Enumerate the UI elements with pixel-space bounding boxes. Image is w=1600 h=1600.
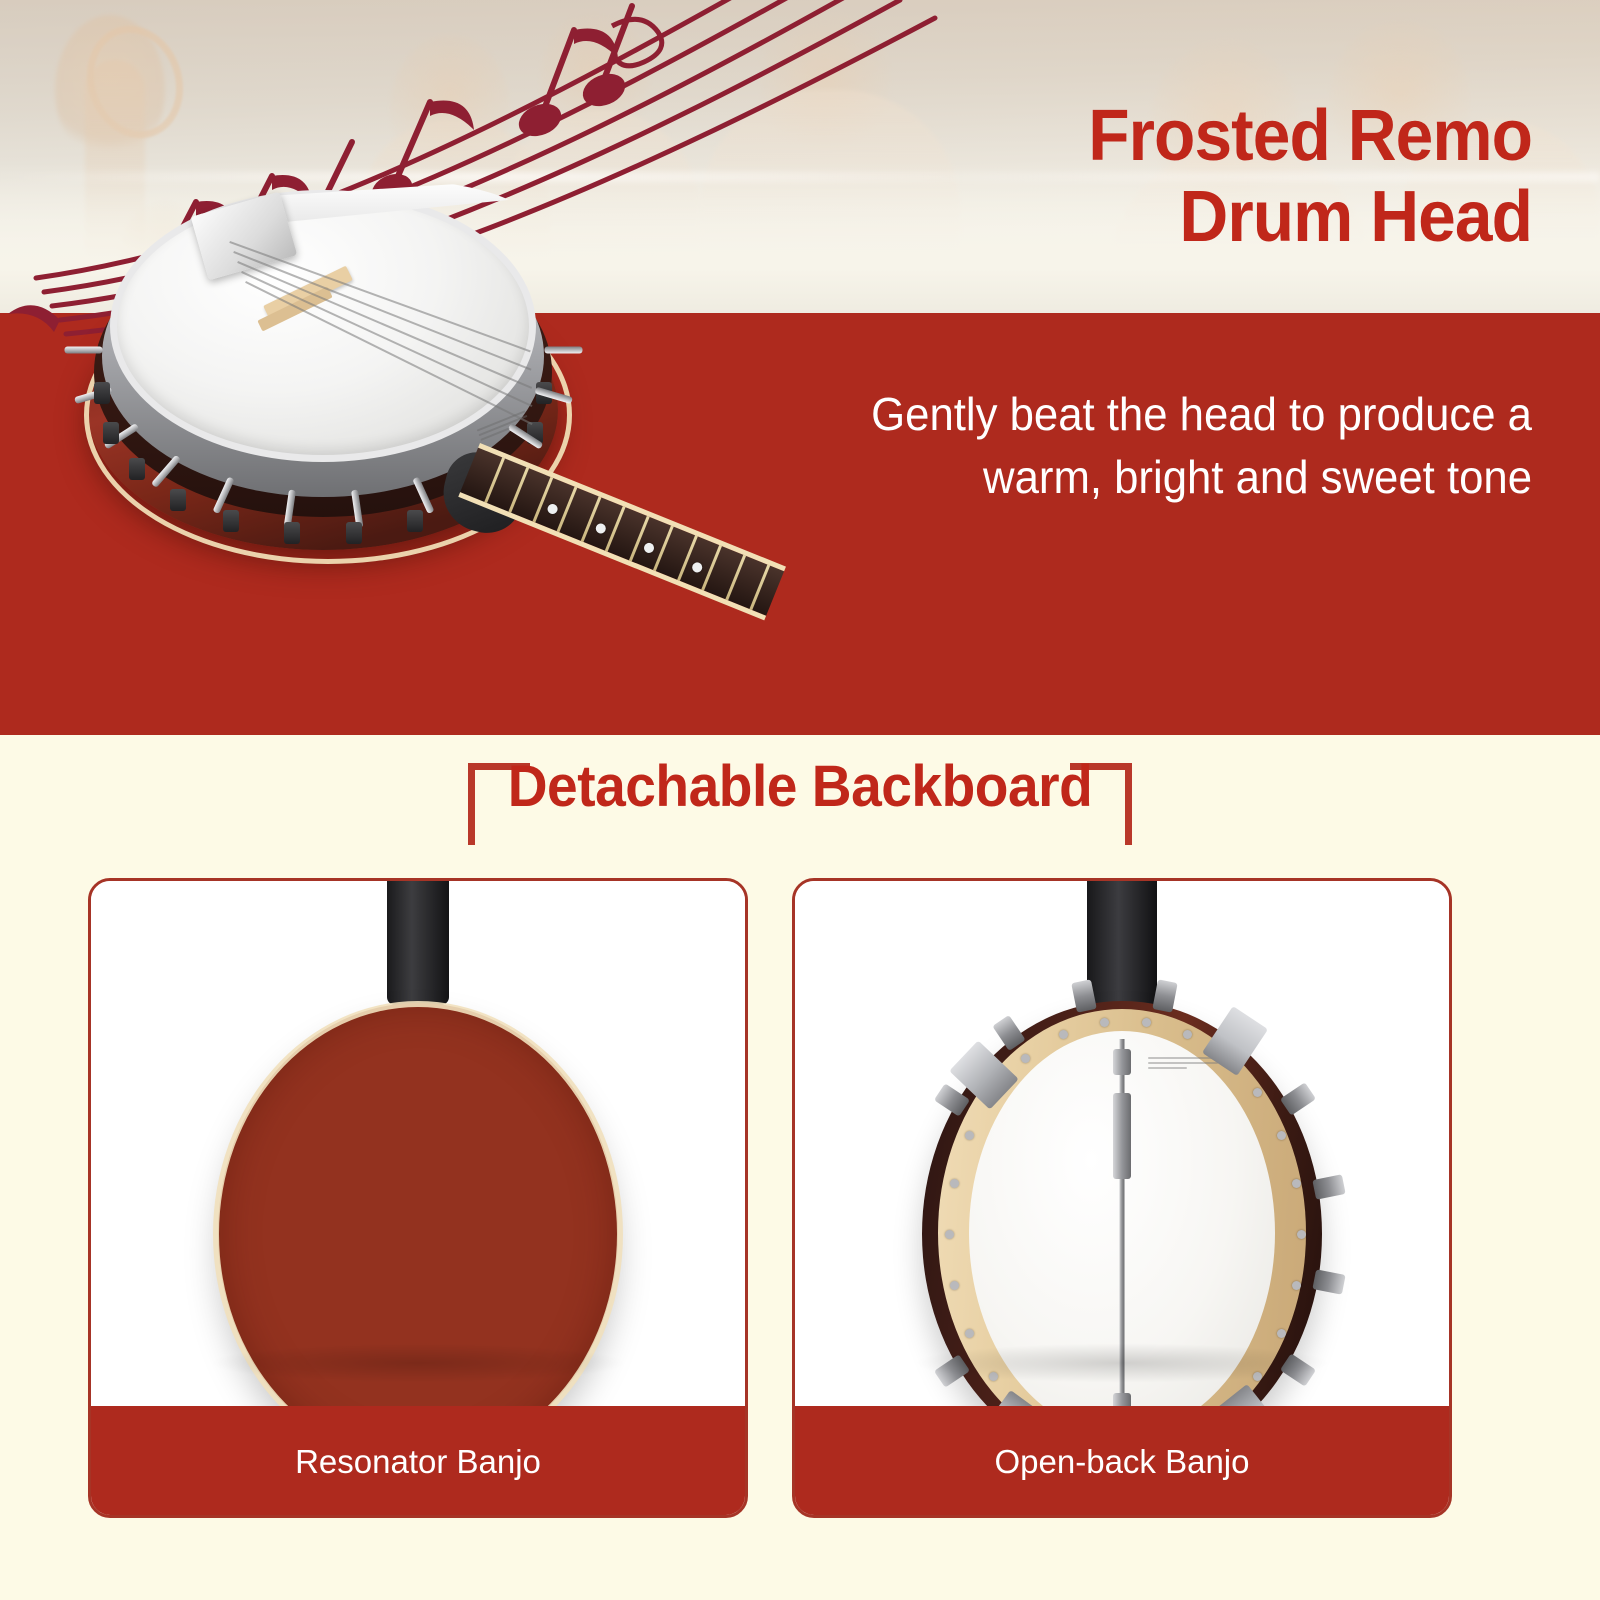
rim-hook-nut xyxy=(1021,1054,1030,1063)
fret xyxy=(605,506,626,552)
shoe-bracket xyxy=(223,510,239,532)
fret xyxy=(701,545,722,591)
fret xyxy=(677,535,698,581)
hero-section: Frosted Remo Drum Head Gently beat the h… xyxy=(0,0,1600,735)
drop-shadow xyxy=(912,1343,1332,1383)
drop-shadow xyxy=(208,1343,628,1383)
section-heading-block: Detachable Backboard xyxy=(0,745,1600,855)
card-resonator-banjo[interactable]: Resonator Banjo xyxy=(88,878,748,1518)
neck-stub xyxy=(1087,878,1157,1013)
banjo-product-image xyxy=(80,175,720,695)
fret xyxy=(508,467,529,513)
fret xyxy=(629,516,650,562)
product-feature-page: Frosted Remo Drum Head Gently beat the h… xyxy=(0,0,1600,1600)
rim-hook-nut xyxy=(1100,1018,1109,1027)
rim-hook-nut xyxy=(945,1230,954,1239)
hero-title-line1: Frosted Remo xyxy=(686,96,1532,177)
fret-inlay-dot xyxy=(546,502,559,515)
card-caption-bar: Resonator Banjo xyxy=(88,1406,748,1518)
shoe-bracket xyxy=(129,458,145,480)
tension-bracket xyxy=(1312,1174,1345,1200)
rim-hook-nut xyxy=(1253,1088,1262,1097)
fret xyxy=(653,526,674,572)
rim-hook-nut xyxy=(1277,1131,1286,1140)
resonator-edge-binding xyxy=(213,1001,623,1467)
tension-bracket xyxy=(1313,1269,1346,1294)
fret xyxy=(749,565,770,611)
tension-hook xyxy=(65,347,103,354)
rim-hook-nut xyxy=(1142,1018,1151,1027)
fret xyxy=(725,555,746,601)
fret xyxy=(484,457,505,503)
hero-title: Frosted Remo Drum Head xyxy=(686,96,1532,257)
rim-hook-nut xyxy=(1059,1030,1068,1039)
rod-sleeve xyxy=(1113,1093,1131,1179)
card-caption-bar: Open-back Banjo xyxy=(792,1406,1452,1518)
rim-hook-nut xyxy=(965,1131,974,1140)
shoe-bracket xyxy=(346,522,362,544)
card-caption-text: Open-back Banjo xyxy=(995,1443,1250,1481)
fret-inlay-dot xyxy=(691,561,704,574)
open-back-banjo-image xyxy=(795,881,1449,1411)
shoe-bracket xyxy=(94,382,110,404)
card-caption-text: Resonator Banjo xyxy=(295,1443,541,1481)
tension-hook xyxy=(545,347,583,354)
hero-title-line2: Drum Head xyxy=(686,177,1532,258)
shoe-bracket xyxy=(103,422,119,444)
shoe-bracket xyxy=(407,510,423,532)
hero-subtitle-line1: Gently beat the head to produce a xyxy=(753,383,1532,446)
hero-subtitle: Gently beat the head to produce a warm, … xyxy=(753,383,1532,510)
card-open-back-banjo[interactable]: Open-back Banjo xyxy=(792,878,1452,1518)
rod-nut-top xyxy=(1113,1049,1131,1075)
rim-hook-nut xyxy=(950,1179,959,1188)
fret xyxy=(581,496,602,542)
shoe-bracket xyxy=(284,522,300,544)
section-title: Detachable Backboard xyxy=(40,753,1560,820)
fret xyxy=(557,487,578,533)
rim-hook-nut xyxy=(1292,1179,1301,1188)
neck-stub xyxy=(387,878,449,1005)
remo-logo-stamp xyxy=(1148,1057,1218,1091)
resonator-banjo-image xyxy=(91,881,745,1411)
shoe-bracket xyxy=(170,489,186,511)
fret xyxy=(532,477,553,523)
fret-inlay-dot xyxy=(642,541,655,554)
hero-subtitle-line2: warm, bright and sweet tone xyxy=(753,446,1532,509)
rim-hook-nut xyxy=(1297,1230,1306,1239)
tension-hoop xyxy=(110,190,536,462)
fret-inlay-dot xyxy=(594,522,607,535)
